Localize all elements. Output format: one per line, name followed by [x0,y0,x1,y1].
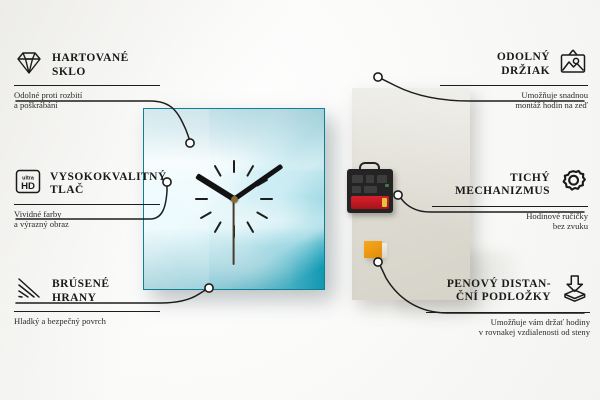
feature-title: BRÚSENÉ HRANY [52,278,109,305]
feature-silent-mechanism[interactable]: TICHÝ MECHANIZMUS Hodinové ručičky bez z… [432,168,588,232]
feature-description: Hladký a bezpečný povrch [14,316,160,327]
framed-picture-icon [558,48,588,81]
feature-title: PENOVÝ DISTAN- ČNÍ PODLOŽKY [447,278,551,305]
arrow-onto-stack-icon [559,274,590,308]
connector-node-2 [205,284,213,292]
feature-description: Odolné proti rozbití a poškrábání [14,90,160,111]
feature-header: BRÚSENÉ HRANY [14,276,160,307]
feature-header: ultra HD VYSOKOKVALITNÝ TLAČ [14,168,160,200]
feature-divider [440,85,588,86]
feature-divider [14,311,160,312]
feature-divider [14,204,160,205]
gear-icon [558,168,588,202]
feature-description: Umožňuje snadnou montáž hodin na zeď [440,90,588,111]
feature-title: VYSOKOKVALITNÝ TLAČ [50,171,167,198]
connector-node-3 [374,73,382,81]
connector-node-4 [394,191,402,199]
feature-description: Hodinové ručičky bez zvuku [432,211,588,232]
ultra-hd-badge-icon: ultra HD [14,168,42,200]
connector-node-0 [186,139,194,147]
feature-description: Vividné farby a výrazný obraz [14,209,160,230]
feature-divider [432,206,588,207]
feature-description: Umožňuje vám držať hodiny v rovnakej vzd… [426,317,590,338]
feature-polished-edges[interactable]: BRÚSENÉ HRANY Hladký a bezpečný povrch [14,276,160,326]
svg-text:HD: HD [21,181,35,192]
feature-header: HARTOVANÉ SKLO [14,50,160,81]
feature-title: TICHÝ MECHANIZMUS [455,172,550,199]
feature-divider [14,85,160,86]
feature-header: TICHÝ MECHANIZMUS [432,168,588,202]
feature-tempered-glass[interactable]: HARTOVANÉ SKLO Odolné proti rozbití a po… [14,50,160,111]
feature-header: ODOLNÝ DRŽIAK [440,48,588,81]
feature-title: ODOLNÝ DRŽIAK [497,51,550,78]
diamond-icon [14,50,44,81]
feature-title: HARTOVANÉ SKLO [52,52,129,79]
feature-foam-spacers[interactable]: PENOVÝ DISTAN- ČNÍ PODLOŽKY Umožňuje vám… [426,274,590,338]
diagonal-lines-icon [14,276,44,307]
feature-durable-hanger[interactable]: ODOLNÝ DRŽIAK Umožňuje snadnou montáž ho… [440,48,588,111]
feature-high-quality-print[interactable]: ultra HD VYSOKOKVALITNÝ TLAČ Vividné far… [14,168,160,230]
feature-divider [426,312,590,313]
connector-node-5 [374,258,382,266]
feature-header: PENOVÝ DISTAN- ČNÍ PODLOŽKY [426,274,590,308]
infographic-canvas: HARTOVANÉ SKLO Odolné proti rozbití a po… [0,0,600,400]
